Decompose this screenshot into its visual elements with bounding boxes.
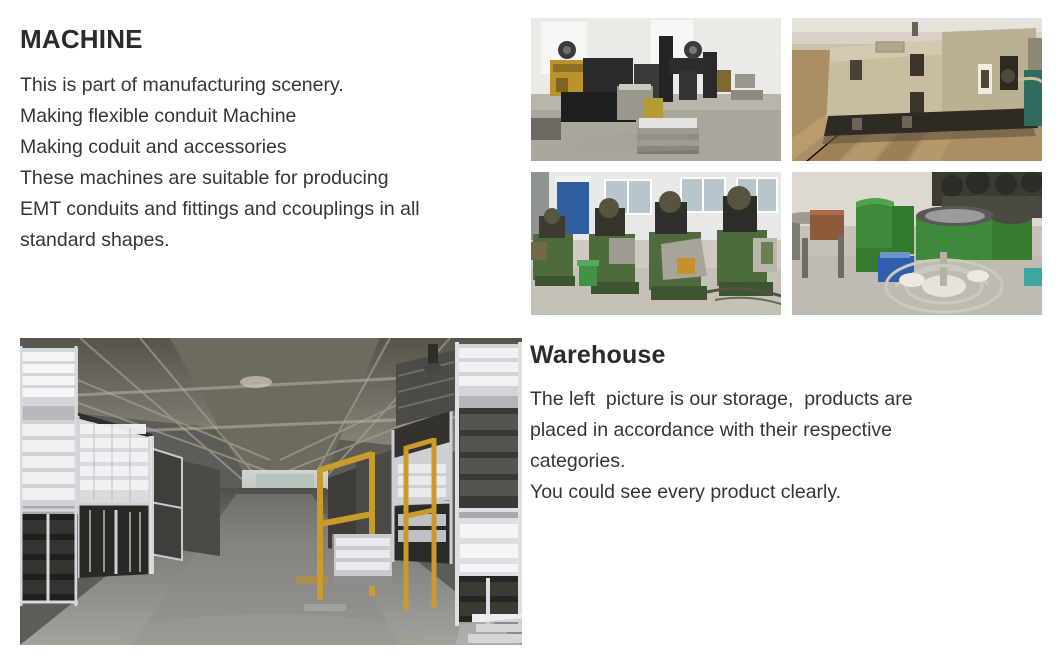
photo-green-coilers: [792, 172, 1042, 315]
photo-warehouse-aisle: [20, 338, 522, 645]
machine-line-4: These machines are suitable for producin…: [20, 163, 520, 194]
machine-body: This is part of manufacturing scenery. M…: [20, 70, 520, 256]
machine-section: MACHINE This is part of manufacturing sc…: [20, 24, 520, 256]
page-root: MACHINE This is part of manufacturing sc…: [0, 0, 1060, 661]
warehouse-section: Warehouse The left picture is our storag…: [530, 340, 1040, 508]
machine-line-5: EMT conduits and fittings and ccouplings…: [20, 194, 520, 225]
warehouse-line-4: You could see every product clearly.: [530, 477, 1040, 508]
warehouse-body: The left picture is our storage, product…: [530, 384, 1040, 508]
warehouse-line-3: categories.: [530, 446, 1040, 477]
machine-line-6: standard shapes.: [20, 225, 520, 256]
warehouse-line-2: placed in accordance with their respecti…: [530, 415, 1040, 446]
machine-line-1: This is part of manufacturing scenery.: [20, 70, 520, 101]
photo-beige-lathe: [792, 18, 1042, 161]
warehouse-heading: Warehouse: [530, 340, 1040, 370]
machine-photo-grid: [531, 18, 1042, 315]
machine-heading: MACHINE: [20, 24, 520, 54]
photo-green-presses: [531, 172, 781, 315]
machine-line-3: Making coduit and accessories: [20, 132, 520, 163]
warehouse-line-1: The left picture is our storage, product…: [530, 384, 1040, 415]
machine-line-2: Making flexible conduit Machine: [20, 101, 520, 132]
photo-extrusion-line: [531, 18, 781, 161]
